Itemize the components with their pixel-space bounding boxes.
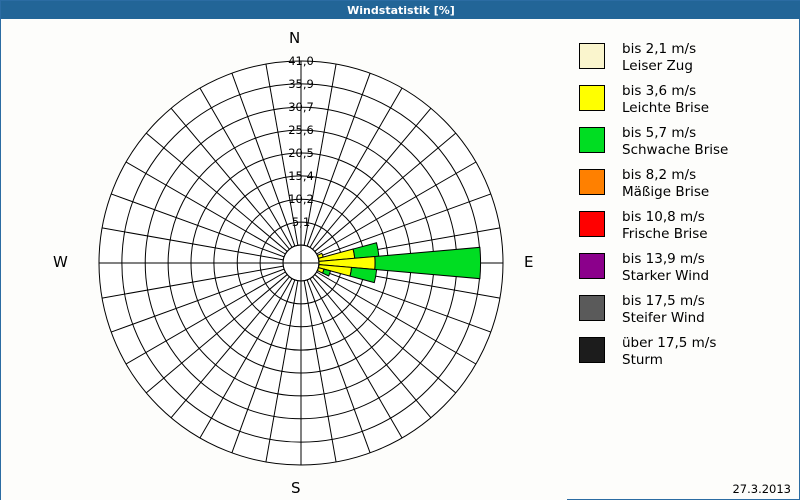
- legend-item[interactable]: bis 8,2 m/sMäßige Brise: [579, 167, 793, 200]
- legend-item-speed: bis 3,6 m/s: [622, 83, 709, 100]
- legend-item[interactable]: bis 3,6 m/sLeichte Brise: [579, 83, 793, 116]
- footer-date: 27.3.2013: [732, 482, 791, 496]
- compass-label-north: N: [289, 29, 300, 47]
- compass-label-west: W: [53, 253, 68, 271]
- radial-tick-label: 30,7: [288, 100, 314, 114]
- legend-color-swatch: [579, 337, 605, 363]
- legend: bis 2,1 m/sLeiser Zugbis 3,6 m/sLeichte …: [579, 41, 793, 377]
- radial-tick-label: 15,4: [288, 169, 314, 183]
- legend-item-text: bis 10,8 m/sFrische Brise: [622, 209, 708, 242]
- legend-item[interactable]: bis 17,5 m/sSteifer Wind: [579, 293, 793, 326]
- legend-item[interactable]: bis 5,7 m/sSchwache Brise: [579, 125, 793, 158]
- radial-tick-label: 25,6: [288, 123, 314, 137]
- legend-item-name: Sturm: [622, 352, 716, 369]
- radial-tick-label: 20,5: [288, 146, 314, 160]
- legend-item-name: Starker Wind: [622, 268, 709, 285]
- legend-item-name: Frische Brise: [622, 226, 708, 243]
- legend-item-speed: über 17,5 m/s: [622, 335, 716, 352]
- radial-tick-label: 10,2: [288, 192, 314, 206]
- legend-color-swatch: [579, 127, 605, 153]
- compass-label-east: E: [524, 253, 533, 271]
- legend-item[interactable]: bis 10,8 m/sFrische Brise: [579, 209, 793, 242]
- legend-item-text: bis 3,6 m/sLeichte Brise: [622, 83, 709, 116]
- legend-item-speed: bis 10,8 m/s: [622, 209, 708, 226]
- windstatistik-window: Windstatistik [%] 5,110,215,420,525,630,…: [0, 0, 800, 500]
- windrose-svg: [1, 19, 567, 500]
- legend-item-name: Schwache Brise: [622, 142, 728, 159]
- legend-item[interactable]: über 17,5 m/sSturm: [579, 335, 793, 368]
- legend-item-name: Leiser Zug: [622, 58, 696, 75]
- legend-item[interactable]: bis 2,1 m/sLeiser Zug: [579, 41, 793, 74]
- legend-item-name: Leichte Brise: [622, 100, 709, 117]
- legend-item-name: Steifer Wind: [622, 310, 705, 327]
- legend-item-text: über 17,5 m/sSturm: [622, 335, 716, 368]
- legend-color-swatch: [579, 43, 605, 69]
- windrose-plot-area: 5,110,215,420,525,630,735,941,0: [1, 19, 567, 500]
- legend-item-speed: bis 13,9 m/s: [622, 251, 709, 268]
- legend-color-swatch: [579, 211, 605, 237]
- legend-item-speed: bis 8,2 m/s: [622, 167, 709, 184]
- legend-item[interactable]: bis 13,9 m/sStarker Wind: [579, 251, 793, 284]
- legend-item-text: bis 8,2 m/sMäßige Brise: [622, 167, 709, 200]
- legend-item-speed: bis 5,7 m/s: [622, 125, 728, 142]
- legend-color-swatch: [579, 295, 605, 321]
- legend-color-swatch: [579, 253, 605, 279]
- legend-item-name: Mäßige Brise: [622, 184, 709, 201]
- legend-item-speed: bis 17,5 m/s: [622, 293, 705, 310]
- legend-item-text: bis 13,9 m/sStarker Wind: [622, 251, 709, 284]
- legend-item-speed: bis 2,1 m/s: [622, 41, 696, 58]
- window-title: Windstatistik [%]: [347, 4, 455, 17]
- compass-label-south: S: [291, 479, 301, 497]
- legend-color-swatch: [579, 85, 605, 111]
- radial-tick-label: 35,9: [288, 77, 314, 91]
- window-title-bar: Windstatistik [%]: [1, 1, 800, 19]
- legend-item-text: bis 17,5 m/sSteifer Wind: [622, 293, 705, 326]
- radial-tick-label: 41,0: [288, 54, 314, 68]
- radial-tick-label: 5,1: [292, 215, 310, 229]
- legend-item-text: bis 5,7 m/sSchwache Brise: [622, 125, 728, 158]
- legend-item-text: bis 2,1 m/sLeiser Zug: [622, 41, 696, 74]
- legend-color-swatch: [579, 169, 605, 195]
